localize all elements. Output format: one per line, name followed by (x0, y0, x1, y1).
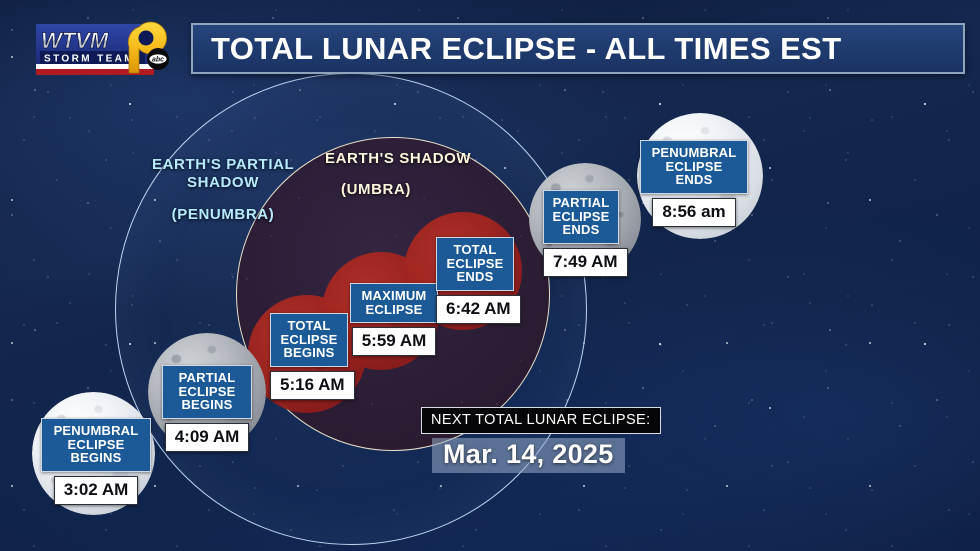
umbra-label-line1: EARTH'S (325, 150, 394, 167)
tag-total-eclipse-ends[interactable]: TOTAL ECLIPSE ENDS 6:42 AM (436, 237, 514, 324)
tag-label-line: TOTAL (279, 319, 339, 333)
tag-time: 7:49 AM (543, 248, 628, 277)
tag-time: 4:09 AM (165, 423, 250, 452)
svg-text:STORM TEAM: STORM TEAM (44, 54, 135, 65)
tag-label-line: BEGINS (279, 346, 339, 360)
next-eclipse-block: NEXT TOTAL LUNAR ECLIPSE: Mar. 14, 2025 (421, 407, 661, 473)
tag-label-line: ECLIPSE (171, 385, 243, 399)
tag-label-line: PENUMBRAL (50, 424, 142, 438)
tag-label: PENUMBRAL ECLIPSE ENDS (640, 140, 748, 194)
tag-label-line: PARTIAL (171, 371, 243, 385)
tag-time: 3:02 AM (54, 476, 139, 505)
tag-label-line: BEGINS (50, 451, 142, 465)
tag-total-eclipse-begins[interactable]: TOTAL ECLIPSE BEGINS 5:16 AM (270, 313, 348, 400)
headline-bar: TOTAL LUNAR ECLIPSE - ALL TIMES EST (191, 23, 965, 74)
tag-label-line: ECLIPSE (50, 438, 142, 452)
tag-label: TOTAL ECLIPSE ENDS (436, 237, 514, 291)
tag-label-line: ECLIPSE (552, 210, 610, 224)
tag-label: PENUMBRAL ECLIPSE BEGINS (41, 418, 151, 472)
tag-penumbral-eclipse-begins[interactable]: PENUMBRAL ECLIPSE BEGINS 3:02 AM (41, 418, 151, 505)
svg-text:WTVM: WTVM (41, 28, 109, 53)
station-logo[interactable]: WTVM STORM TEAM abc (36, 21, 181, 78)
penumbra-region-label: EARTH'S PARTIAL SHADOW (PENUMBRA) (141, 156, 305, 224)
eclipse-graphic: EARTH'S PARTIAL SHADOW (PENUMBRA) EARTH'… (0, 0, 980, 551)
next-eclipse-heading: NEXT TOTAL LUNAR ECLIPSE: (421, 407, 661, 434)
penumbra-label-sub: (PENUMBRA) (141, 206, 305, 224)
tag-label-line: TOTAL (445, 243, 505, 257)
tag-label-line: ECLIPSE (359, 303, 429, 317)
tag-label-line: ENDS (445, 270, 505, 284)
tag-label-line: PENUMBRAL (649, 146, 739, 160)
tag-label: TOTAL ECLIPSE BEGINS (270, 313, 348, 367)
umbra-label-line2: SHADOW (399, 150, 471, 167)
umbra-region-label: EARTH'S SHADOW (UMBRA) (325, 150, 485, 200)
wtvm-storm-team-logo-icon: WTVM STORM TEAM abc (36, 21, 181, 78)
tag-partial-eclipse-begins[interactable]: PARTIAL ECLIPSE BEGINS 4:09 AM (162, 365, 252, 452)
tag-label-line: ENDS (552, 223, 610, 237)
tag-time: 5:16 AM (270, 371, 355, 400)
tag-time: 6:42 AM (436, 295, 521, 324)
tag-label-line: PARTIAL (552, 196, 610, 210)
tag-label: PARTIAL ECLIPSE ENDS (543, 190, 619, 244)
svg-text:abc: abc (152, 57, 164, 64)
tag-penumbral-eclipse-ends[interactable]: PENUMBRAL ECLIPSE ENDS 8:56 am (640, 140, 748, 227)
tag-label-line: ECLIPSE (445, 257, 505, 271)
tag-label-line: MAXIMUM (359, 289, 429, 303)
penumbra-label-line1: EARTH'S (152, 156, 221, 173)
tag-time: 8:56 am (652, 198, 735, 227)
umbra-label-sub: (UMBRA) (341, 181, 485, 199)
penumbra-label-line3: SHADOW (187, 174, 259, 191)
tag-label-line: ECLIPSE (649, 160, 739, 174)
next-eclipse-date: Mar. 14, 2025 (432, 438, 625, 473)
tag-partial-eclipse-ends[interactable]: PARTIAL ECLIPSE ENDS 7:49 AM (543, 190, 619, 277)
tag-label-line: BEGINS (171, 398, 243, 412)
tag-label: MAXIMUM ECLIPSE (350, 283, 438, 323)
tag-label-line: ENDS (649, 173, 739, 187)
tag-maximum-eclipse[interactable]: MAXIMUM ECLIPSE 5:59 AM (350, 283, 438, 356)
tag-label: PARTIAL ECLIPSE BEGINS (162, 365, 252, 419)
tag-label-line: ECLIPSE (279, 333, 339, 347)
penumbra-label-line2: PARTIAL (226, 156, 294, 173)
tag-time: 5:59 AM (352, 327, 437, 356)
page-title: TOTAL LUNAR ECLIPSE - ALL TIMES EST (193, 31, 842, 67)
